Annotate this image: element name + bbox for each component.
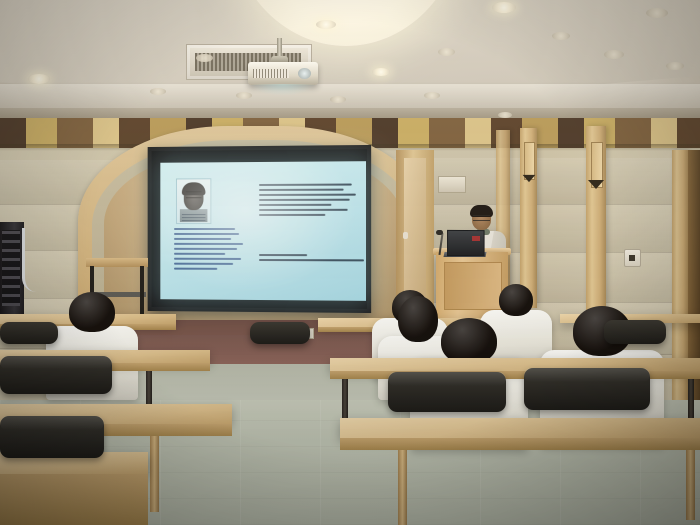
audience-long-hair-left-hair-sheen xyxy=(398,296,438,342)
presentation-laptop[interactable] xyxy=(447,230,485,256)
laptop-logo xyxy=(472,236,480,241)
lecture-desk xyxy=(340,418,700,438)
auditorium-chair[interactable] xyxy=(0,322,58,344)
desk-leg xyxy=(686,450,695,520)
projection-screen xyxy=(152,149,368,309)
recessed-downlight xyxy=(646,8,668,18)
audience-front-left-hair-sheen xyxy=(69,292,115,332)
recessed-downlight xyxy=(424,92,440,99)
auditorium-chair[interactable] xyxy=(0,416,104,458)
auditorium-chair[interactable] xyxy=(0,356,112,394)
gooseneck-microphone[interactable] xyxy=(436,230,443,235)
wall-pilaster-center xyxy=(520,128,537,308)
recessed-downlight xyxy=(330,96,346,103)
desk-leg xyxy=(398,450,407,525)
av-rack-slots xyxy=(2,230,20,306)
ceiling-soffit xyxy=(0,84,700,110)
recessed-downlight xyxy=(492,2,516,13)
av-side-table-leg-right xyxy=(140,266,144,320)
recessed-downlight xyxy=(316,20,336,29)
pilaster-triangle-accent-right xyxy=(588,180,604,189)
slide-light-bloom xyxy=(160,161,366,301)
presenter-glasses xyxy=(473,215,490,221)
recessed-downlight xyxy=(666,62,684,70)
podium-front-panel xyxy=(444,262,502,310)
recessed-downlight xyxy=(604,50,624,59)
recessed-downlight xyxy=(552,32,570,40)
projector-lens xyxy=(298,68,311,79)
auditorium-chair[interactable] xyxy=(524,368,650,410)
projection-beam xyxy=(250,84,316,96)
audience-back-right-man-hair-sheen xyxy=(499,284,533,316)
auditorium-chair[interactable] xyxy=(388,372,506,412)
door-knob[interactable] xyxy=(403,232,408,239)
recessed-downlight xyxy=(438,48,455,56)
recessed-downlight xyxy=(372,68,390,76)
screen-frame xyxy=(148,145,371,313)
lecture-desk-front xyxy=(0,474,148,525)
av-rack-cable xyxy=(22,228,39,292)
presentation-slide xyxy=(160,161,366,301)
pilaster-triangle-accent-center xyxy=(523,175,536,182)
auditorium-chair[interactable] xyxy=(250,322,310,344)
projector-vent-grille xyxy=(253,69,289,78)
recessed-downlight xyxy=(196,54,213,62)
auditorium-chair[interactable] xyxy=(604,320,666,344)
light-switch-plate[interactable] xyxy=(624,249,641,267)
recessed-downlight xyxy=(150,88,166,95)
recessed-downlight xyxy=(28,74,50,84)
wall-sign xyxy=(438,176,466,193)
av-side-table xyxy=(86,258,148,267)
recessed-downlight xyxy=(236,92,252,99)
desk-leg xyxy=(150,436,159,512)
lecture-hall-photo xyxy=(0,0,700,525)
lecture-desk-front xyxy=(340,438,700,450)
